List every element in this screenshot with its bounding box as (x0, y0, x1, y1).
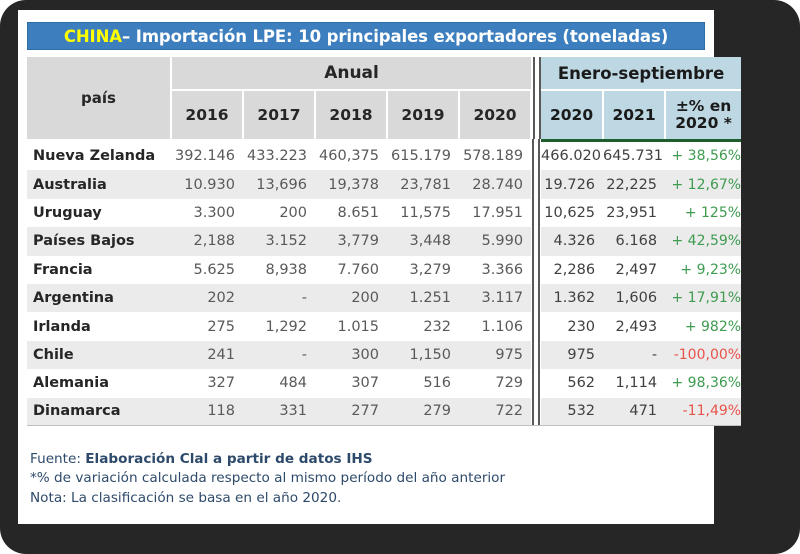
cell-annual-2019: 516 (387, 369, 459, 397)
cell-annual-2016: 3.300 (171, 199, 243, 227)
footer-source-value: Elaboración Clal a partir de datos IHS (85, 451, 372, 467)
row-divider (531, 170, 541, 198)
cell-country: Países Bajos (27, 227, 171, 255)
cell-annual-2016: 241 (171, 341, 243, 369)
exporters-table: país Anual Enero-septiembre 2016 2017 20… (27, 57, 741, 428)
cell-jansep-2020: 1.362 (541, 284, 603, 312)
cell-annual-2016: 327 (171, 369, 243, 397)
footer-notes: Fuente: Elaboración Clal a partir de dat… (30, 450, 690, 508)
cell-variation: -11,49% (665, 398, 741, 426)
cell-jansep-2021: 2,497 (603, 256, 665, 284)
table-row[interactable]: Australia10.93013,69619,37823,78128.7401… (27, 170, 741, 198)
bottom-rule-row (27, 426, 741, 429)
cell-annual-2018: 460,375 (315, 142, 387, 170)
cell-annual-2020: 578.189 (459, 142, 531, 170)
header-jansep-2021: 2021 (603, 90, 665, 139)
cell-jansep-2020: 532 (541, 398, 603, 426)
row-divider (531, 199, 541, 227)
cell-country: Dinamarca (27, 398, 171, 426)
cell-variation: + 42,59% (665, 227, 741, 255)
cell-annual-2020: 5.990 (459, 227, 531, 255)
cell-jansep-2020: 19.726 (541, 170, 603, 198)
cell-annual-2017: 200 (243, 199, 315, 227)
header-year-2016: 2016 (171, 90, 243, 139)
cell-annual-2016: 5.625 (171, 256, 243, 284)
cell-variation: + 98,36% (665, 369, 741, 397)
table-row[interactable]: Nueva Zelanda392.146433.223460,375615.17… (27, 142, 741, 170)
table-row[interactable]: Chile241-3001,150975975--100,00% (27, 341, 741, 369)
footer-source: Fuente: Elaboración Clal a partir de dat… (30, 450, 690, 469)
header-group-jansep: Enero-septiembre (541, 57, 741, 90)
cell-country: Argentina (27, 284, 171, 312)
header-year-2020: 2020 (459, 90, 531, 139)
cell-country: Francia (27, 256, 171, 284)
table-body: Nueva Zelanda392.146433.223460,375615.17… (27, 139, 741, 428)
cell-variation: + 12,67% (665, 170, 741, 198)
cell-annual-2017: - (243, 284, 315, 312)
cell-annual-2017: 331 (243, 398, 315, 426)
cell-annual-2018: 7.760 (315, 256, 387, 284)
chart-title-bar: CHINA – Importación LPE: 10 principales … (27, 22, 705, 50)
footer-source-label: Fuente: (30, 451, 85, 467)
row-divider (531, 142, 541, 170)
footer-note-star: *% de variación calculada respecto al mi… (30, 469, 690, 488)
cell-annual-2018: 1.015 (315, 312, 387, 340)
cell-annual-2019: 11,575 (387, 199, 459, 227)
bottom-rule (27, 426, 741, 429)
cell-jansep-2021: 1,114 (603, 369, 665, 397)
cell-annual-2016: 202 (171, 284, 243, 312)
header-variation: ±% en 2020 * (665, 90, 741, 139)
cell-jansep-2020: 230 (541, 312, 603, 340)
table-row[interactable]: Francia5.6258,9387.7603,2793.3662,2862,4… (27, 256, 741, 284)
row-divider (531, 398, 541, 426)
header-country: país (27, 57, 171, 139)
cell-variation: + 9,23% (665, 256, 741, 284)
cell-annual-2020: 28.740 (459, 170, 531, 198)
cell-annual-2018: 300 (315, 341, 387, 369)
header-variation-line2: 2020 * (675, 114, 732, 132)
cell-annual-2016: 2,188 (171, 227, 243, 255)
cell-jansep-2020: 2,286 (541, 256, 603, 284)
cell-country: Uruguay (27, 199, 171, 227)
cell-jansep-2020: 10,625 (541, 199, 603, 227)
row-divider (531, 256, 541, 284)
cell-country: Nueva Zelanda (27, 142, 171, 170)
cell-annual-2017: 1,292 (243, 312, 315, 340)
cell-annual-2019: 615.179 (387, 142, 459, 170)
header-year-2019: 2019 (387, 90, 459, 139)
cell-country: Irlanda (27, 312, 171, 340)
row-divider (531, 312, 541, 340)
cell-variation: + 982% (665, 312, 741, 340)
cell-annual-2018: 277 (315, 398, 387, 426)
cell-annual-2020: 729 (459, 369, 531, 397)
cell-annual-2020: 3.117 (459, 284, 531, 312)
cell-jansep-2021: 1,606 (603, 284, 665, 312)
cell-annual-2016: 392.146 (171, 142, 243, 170)
cell-jansep-2021: 645.731 (603, 142, 665, 170)
cell-jansep-2020: 466.020 (541, 142, 603, 170)
cell-annual-2018: 19,378 (315, 170, 387, 198)
cell-annual-2019: 3,279 (387, 256, 459, 284)
cell-jansep-2021: 2,493 (603, 312, 665, 340)
table-row[interactable]: Alemania3274843075167295621,114+ 98,36% (27, 369, 741, 397)
cell-jansep-2020: 4.326 (541, 227, 603, 255)
section-divider (531, 57, 541, 139)
cell-annual-2019: 1.251 (387, 284, 459, 312)
title-rest: – Importación LPE: 10 principales export… (122, 27, 668, 46)
row-divider (531, 341, 541, 369)
cell-annual-2017: 8,938 (243, 256, 315, 284)
cell-variation: + 38,56% (665, 142, 741, 170)
cell-annual-2017: 3.152 (243, 227, 315, 255)
cell-annual-2017: - (243, 341, 315, 369)
cell-country: Alemania (27, 369, 171, 397)
header-year-2017: 2017 (243, 90, 315, 139)
cell-annual-2018: 200 (315, 284, 387, 312)
row-divider (531, 284, 541, 312)
cell-annual-2020: 1.106 (459, 312, 531, 340)
row-divider (531, 227, 541, 255)
cell-country: Australia (27, 170, 171, 198)
cell-jansep-2021: - (603, 341, 665, 369)
cell-variation: + 125% (665, 199, 741, 227)
cell-annual-2018: 3,779 (315, 227, 387, 255)
title-country: CHINA (64, 27, 122, 46)
cell-annual-2019: 1,150 (387, 341, 459, 369)
cell-annual-2019: 23,781 (387, 170, 459, 198)
header-group-annual: Anual (171, 57, 531, 90)
cell-variation: -100,00% (665, 341, 741, 369)
table-head: país Anual Enero-septiembre 2016 2017 20… (27, 57, 741, 139)
row-divider (531, 369, 541, 397)
table-row[interactable]: Irlanda2751,2921.0152321.1062302,493+ 98… (27, 312, 741, 340)
cell-annual-2020: 975 (459, 341, 531, 369)
header-group-row: país Anual Enero-septiembre (27, 57, 741, 90)
cell-annual-2018: 8.651 (315, 199, 387, 227)
cell-annual-2016: 275 (171, 312, 243, 340)
data-table-wrapper: país Anual Enero-septiembre 2016 2017 20… (27, 57, 705, 428)
cell-annual-2019: 232 (387, 312, 459, 340)
header-year-2018: 2018 (315, 90, 387, 139)
cell-annual-2019: 279 (387, 398, 459, 426)
cell-jansep-2021: 23,951 (603, 199, 665, 227)
cell-country: Chile (27, 341, 171, 369)
cell-annual-2020: 3.366 (459, 256, 531, 284)
screenshot-frame: CHINA – Importación LPE: 10 principales … (0, 0, 800, 554)
cell-annual-2017: 484 (243, 369, 315, 397)
cell-annual-2019: 3,448 (387, 227, 459, 255)
footer-note-classification: Nota: La clasificación se basa en el año… (30, 489, 690, 508)
cell-annual-2016: 118 (171, 398, 243, 426)
cell-annual-2017: 13,696 (243, 170, 315, 198)
table-row[interactable]: Uruguay3.3002008.65111,57517.95110,62523… (27, 199, 741, 227)
cell-jansep-2020: 975 (541, 341, 603, 369)
table-card: CHINA – Importación LPE: 10 principales … (18, 10, 714, 524)
cell-jansep-2021: 471 (603, 398, 665, 426)
cell-jansep-2021: 22,225 (603, 170, 665, 198)
cell-annual-2018: 307 (315, 369, 387, 397)
table-row[interactable]: Países Bajos2,1883.1523,7793,4485.9904.3… (27, 227, 741, 255)
cell-jansep-2020: 562 (541, 369, 603, 397)
cell-annual-2020: 17.951 (459, 199, 531, 227)
cell-annual-2016: 10.930 (171, 170, 243, 198)
cell-annual-2017: 433.223 (243, 142, 315, 170)
cell-annual-2020: 722 (459, 398, 531, 426)
table-row[interactable]: Dinamarca118331277279722532471-11,49% (27, 398, 741, 426)
table-row[interactable]: Argentina202-2001.2513.1171.3621,606+ 17… (27, 284, 741, 312)
header-jansep-2020: 2020 (541, 90, 603, 139)
cell-variation: + 17,91% (665, 284, 741, 312)
cell-jansep-2021: 6.168 (603, 227, 665, 255)
header-variation-line1: ±% en (676, 97, 731, 115)
